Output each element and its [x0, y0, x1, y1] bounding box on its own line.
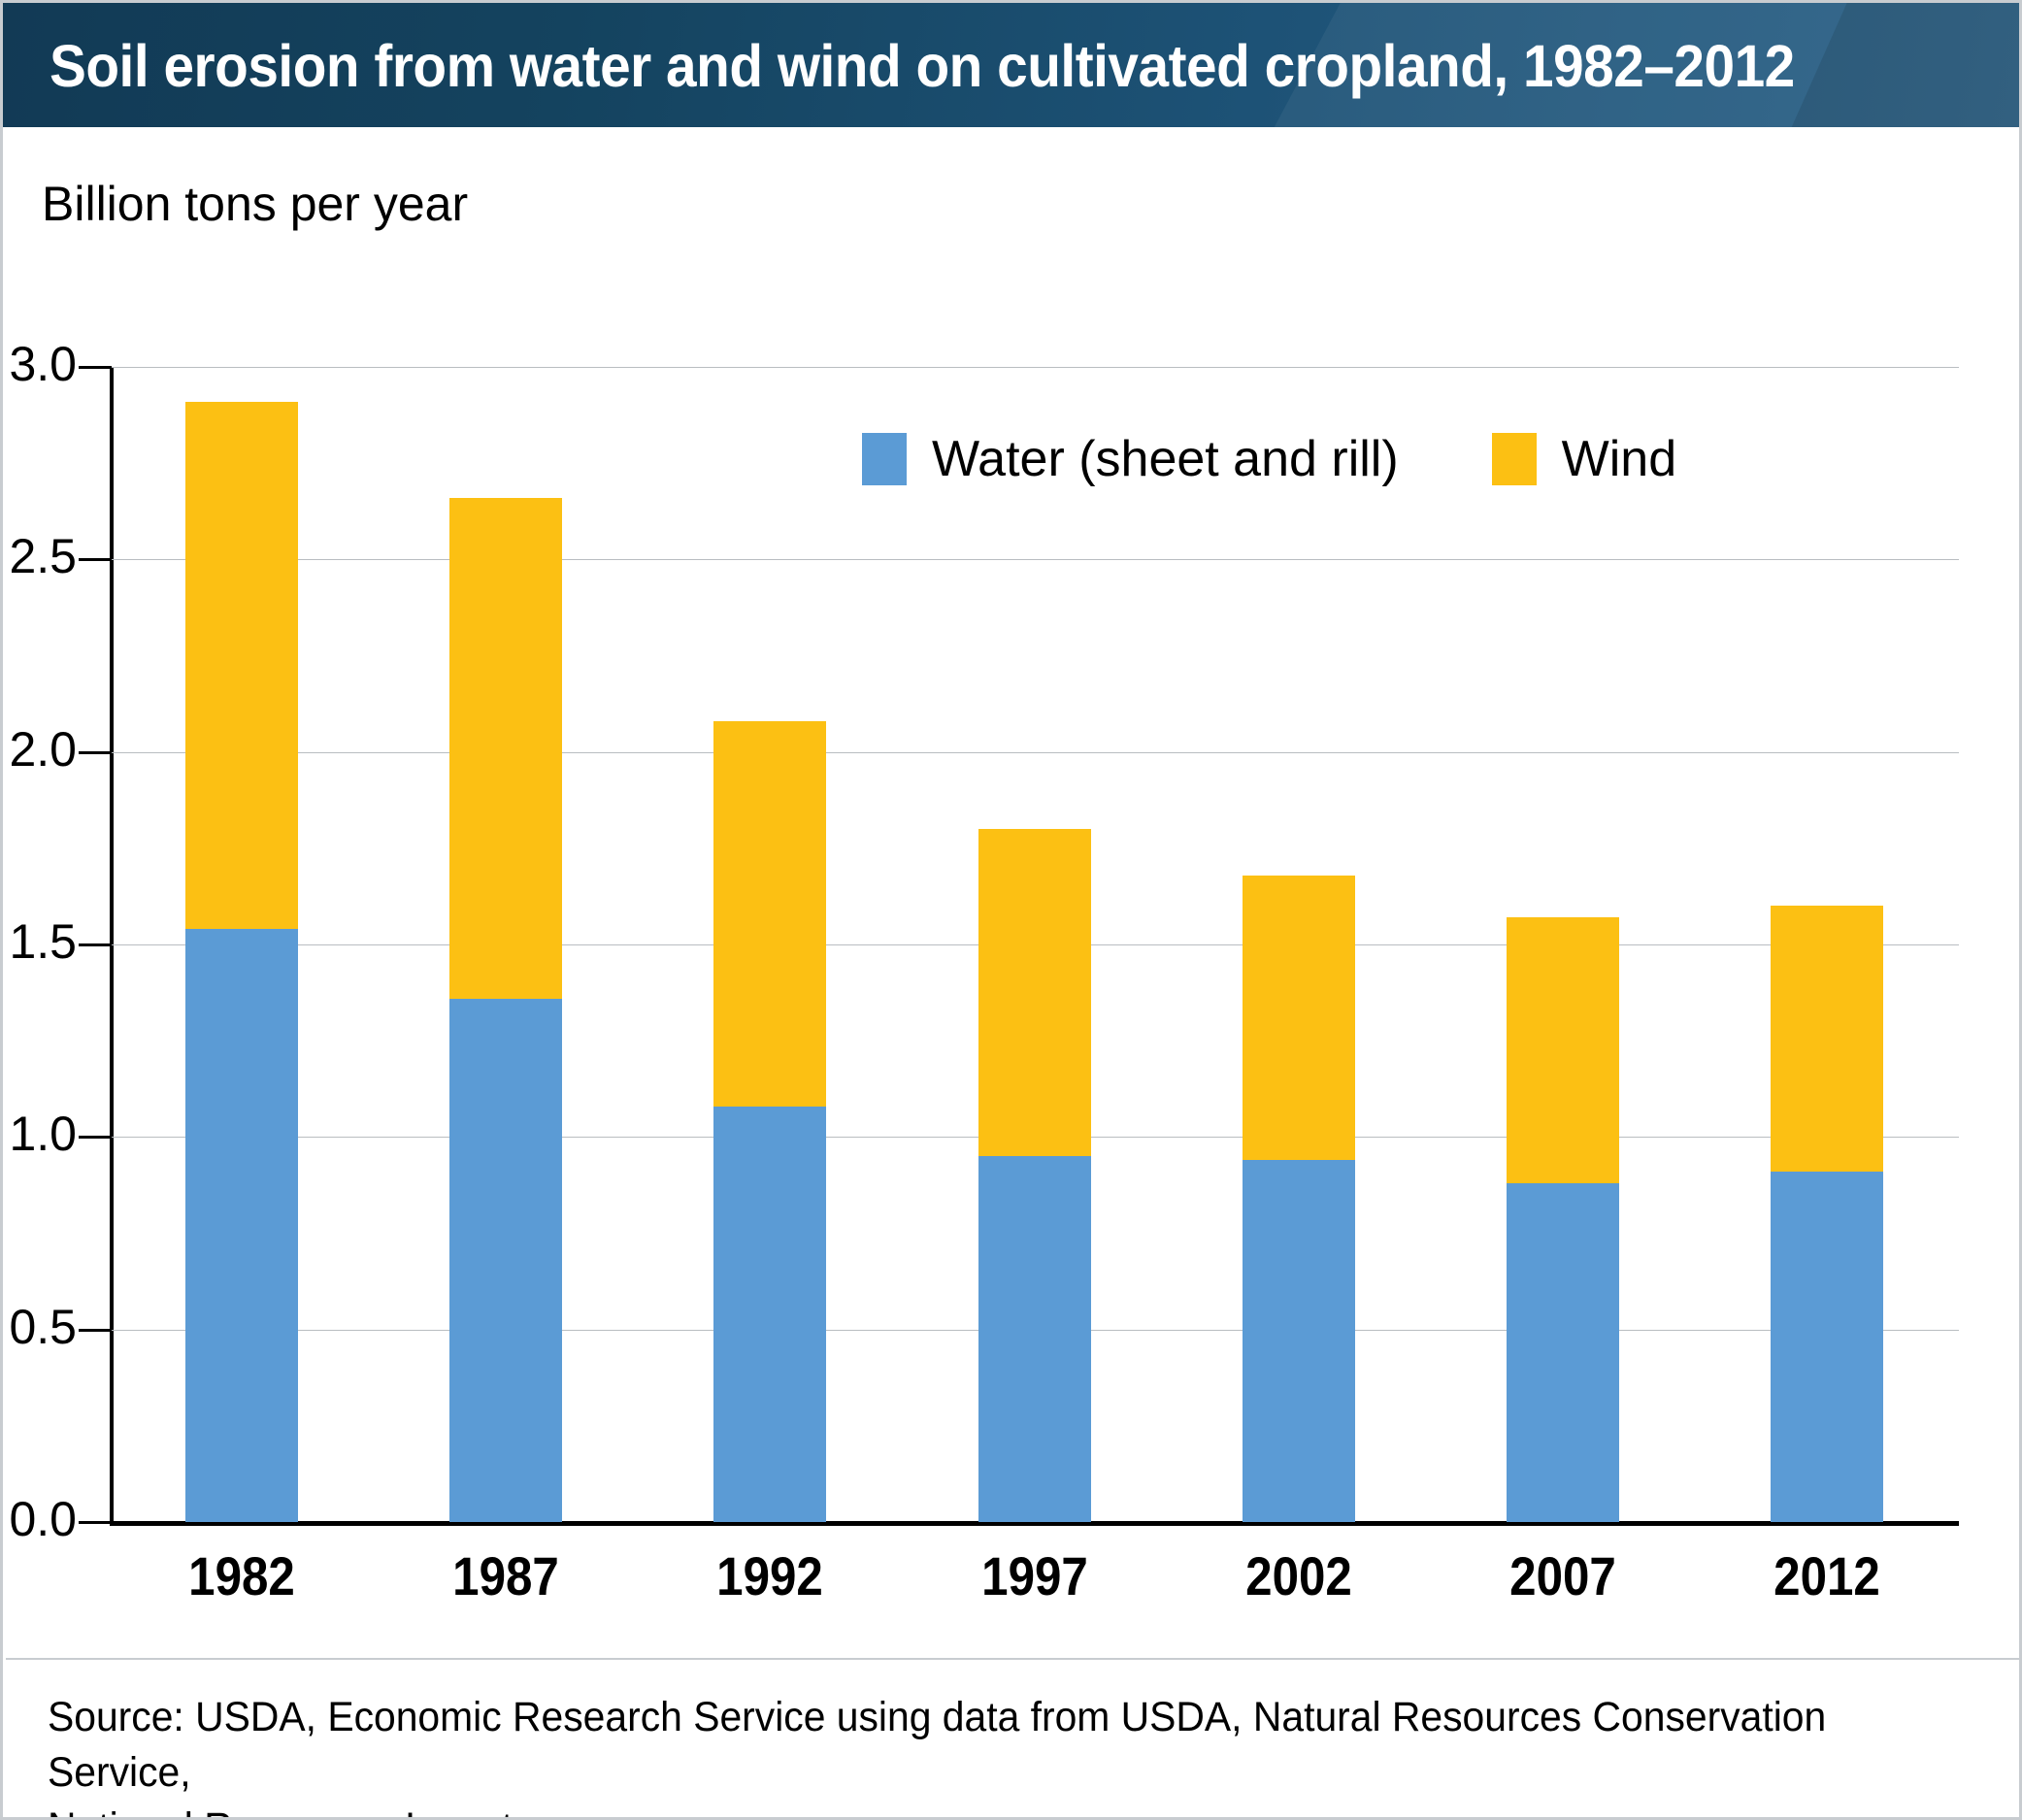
- bar-segment-wind[interactable]: [978, 829, 1091, 1156]
- bar-segment-water[interactable]: [978, 1156, 1091, 1522]
- bar-segment-wind[interactable]: [185, 402, 298, 929]
- y-axis-tick-mark: [79, 1329, 112, 1332]
- bar-segment-water[interactable]: [1771, 1172, 1883, 1522]
- bar-segment-water[interactable]: [449, 999, 562, 1522]
- bar-segment-wind[interactable]: [449, 498, 562, 999]
- y-axis-tick-label: 0.5: [0, 1303, 77, 1351]
- y-axis-tick-mark: [79, 751, 112, 754]
- bar-segment-water[interactable]: [713, 1107, 826, 1522]
- y-axis-tick-mark: [79, 943, 112, 946]
- y-axis-tick-mark: [79, 1521, 112, 1524]
- bar-group[interactable]: [978, 367, 1091, 1522]
- x-axis-tick-label: 2012: [1716, 1544, 1939, 1607]
- yellow-square-swatch: [1492, 433, 1537, 485]
- y-axis-tick-label: 1.0: [0, 1109, 77, 1158]
- bar-segment-wind[interactable]: [713, 721, 826, 1107]
- bar-group[interactable]: [1771, 367, 1883, 1522]
- chart-page: Soil erosion from water and wind on cult…: [0, 0, 2022, 1820]
- legend-item-label: Water (sheet and rill): [932, 434, 1399, 484]
- source-note-line-2: National Resources Inventory.: [48, 1801, 1855, 1820]
- x-axis-tick-label: 1987: [395, 1544, 617, 1607]
- x-axis-tick-label: 2007: [1451, 1544, 1674, 1607]
- y-axis-unit-label: Billion tons per year: [42, 176, 468, 232]
- x-axis-tick-label: 1982: [131, 1544, 353, 1607]
- y-axis-tick-mark: [79, 366, 112, 369]
- y-axis-tick-label: 2.5: [0, 532, 77, 580]
- legend-item-label: Wind: [1562, 434, 1676, 484]
- bar-segment-wind[interactable]: [1243, 876, 1355, 1161]
- y-axis-tick-labels: 3.02.52.01.51.00.50.0: [3, 3, 77, 1820]
- page-title: Soil erosion from water and wind on cult…: [50, 32, 1795, 100]
- y-axis-tick-label: 0.0: [0, 1495, 77, 1543]
- chart-legend: Water (sheet and rill)Wind: [862, 433, 1676, 485]
- source-note: Source: USDA, Economic Research Service …: [48, 1690, 1855, 1820]
- x-axis-tick-label: 1992: [659, 1544, 881, 1607]
- footer-divider: [6, 1658, 2022, 1660]
- bar-group[interactable]: [1243, 367, 1355, 1522]
- y-axis-tick-label: 2.0: [0, 725, 77, 774]
- legend-item[interactable]: Wind: [1492, 433, 1676, 485]
- bar-segment-wind[interactable]: [1507, 917, 1619, 1183]
- source-note-line-1: Source: USDA, Economic Research Service …: [48, 1690, 1855, 1801]
- x-axis-tick-label: 1997: [923, 1544, 1145, 1607]
- bar-group[interactable]: [713, 367, 826, 1522]
- bar-segment-water[interactable]: [185, 929, 298, 1522]
- y-axis-tick-label: 1.5: [0, 917, 77, 966]
- y-axis-tick-label: 3.0: [0, 340, 77, 388]
- plot-area: [110, 367, 1959, 1522]
- bar-segment-wind[interactable]: [1771, 906, 1883, 1172]
- header-banner: Soil erosion from water and wind on cult…: [3, 3, 2022, 127]
- bar-group[interactable]: [449, 367, 562, 1522]
- y-axis-tick-mark: [79, 558, 112, 561]
- bar-segment-water[interactable]: [1243, 1160, 1355, 1522]
- y-axis-tick-mark: [79, 1136, 112, 1139]
- blue-square-swatch: [862, 433, 907, 485]
- legend-item[interactable]: Water (sheet and rill): [862, 433, 1399, 485]
- bar-segment-water[interactable]: [1507, 1183, 1619, 1522]
- bar-group[interactable]: [1507, 367, 1619, 1522]
- bar-group[interactable]: [185, 367, 298, 1522]
- x-axis-tick-label: 2002: [1187, 1544, 1409, 1607]
